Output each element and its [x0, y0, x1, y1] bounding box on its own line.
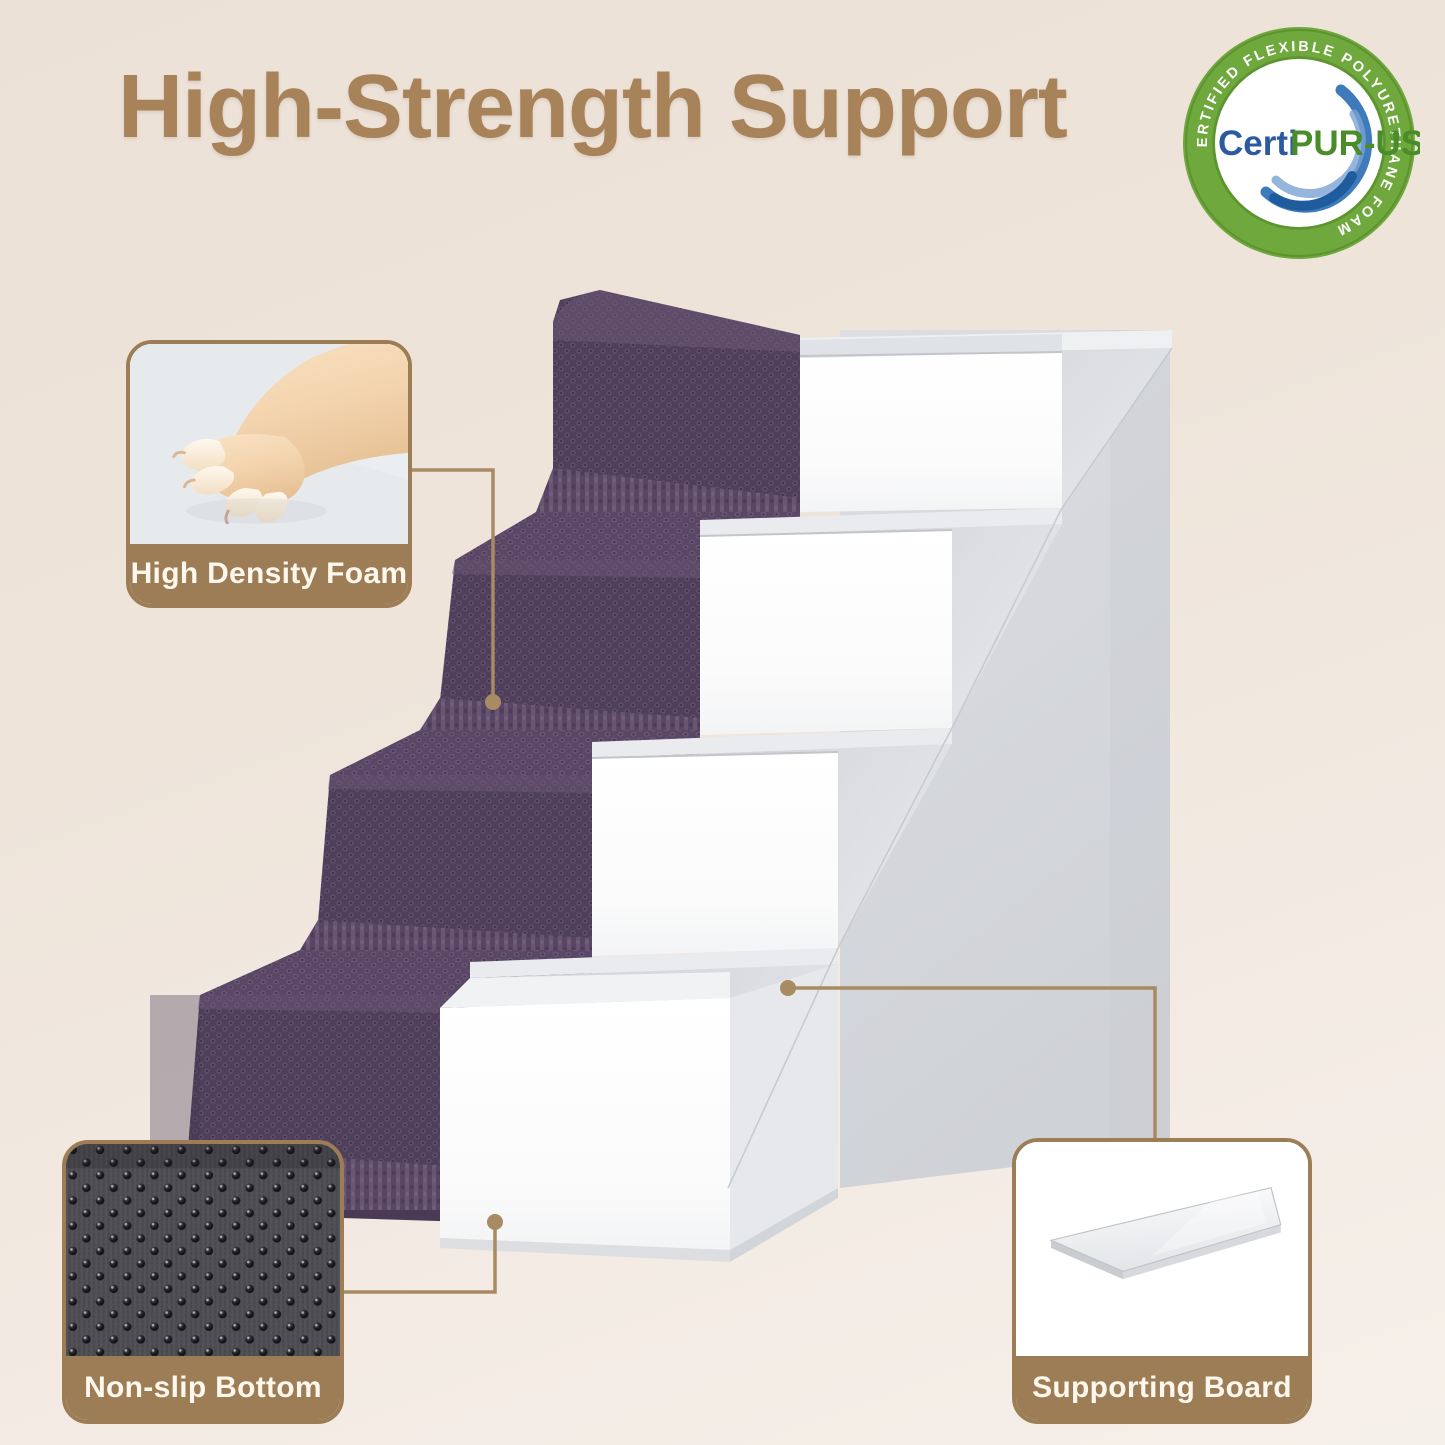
callout-label-supporting-board: Supporting Board	[1016, 1356, 1308, 1420]
badge-wordmark: Certi PUR-US ®	[1218, 124, 1420, 163]
callout-label-high-density-foam: High Density Foam	[130, 544, 408, 604]
supporting-board-thumbnail	[1016, 1142, 1308, 1356]
svg-text:PUR-US: PUR-US	[1290, 124, 1420, 163]
paw-photo-thumbnail	[130, 344, 408, 544]
infographic-canvas: High-Strength Support CONTAINS CERTIFIED…	[0, 0, 1445, 1445]
page-title: High-Strength Support	[118, 62, 1067, 152]
certipur-us-badge: CONTAINS CERTIFIED FLEXIBLE POLYURETHANE…	[1178, 22, 1420, 264]
non-slip-fabric-thumbnail	[66, 1144, 340, 1356]
callout-label-non-slip-bottom: Non-slip Bottom	[66, 1356, 340, 1420]
svg-text:Certi: Certi	[1218, 124, 1298, 163]
callout-non-slip-bottom[interactable]: Non-slip Bottom	[62, 1140, 344, 1424]
callout-high-density-foam[interactable]: High Density Foam	[126, 340, 412, 608]
callout-supporting-board[interactable]: Supporting Board	[1012, 1138, 1312, 1424]
svg-text:®: ®	[1390, 128, 1400, 143]
